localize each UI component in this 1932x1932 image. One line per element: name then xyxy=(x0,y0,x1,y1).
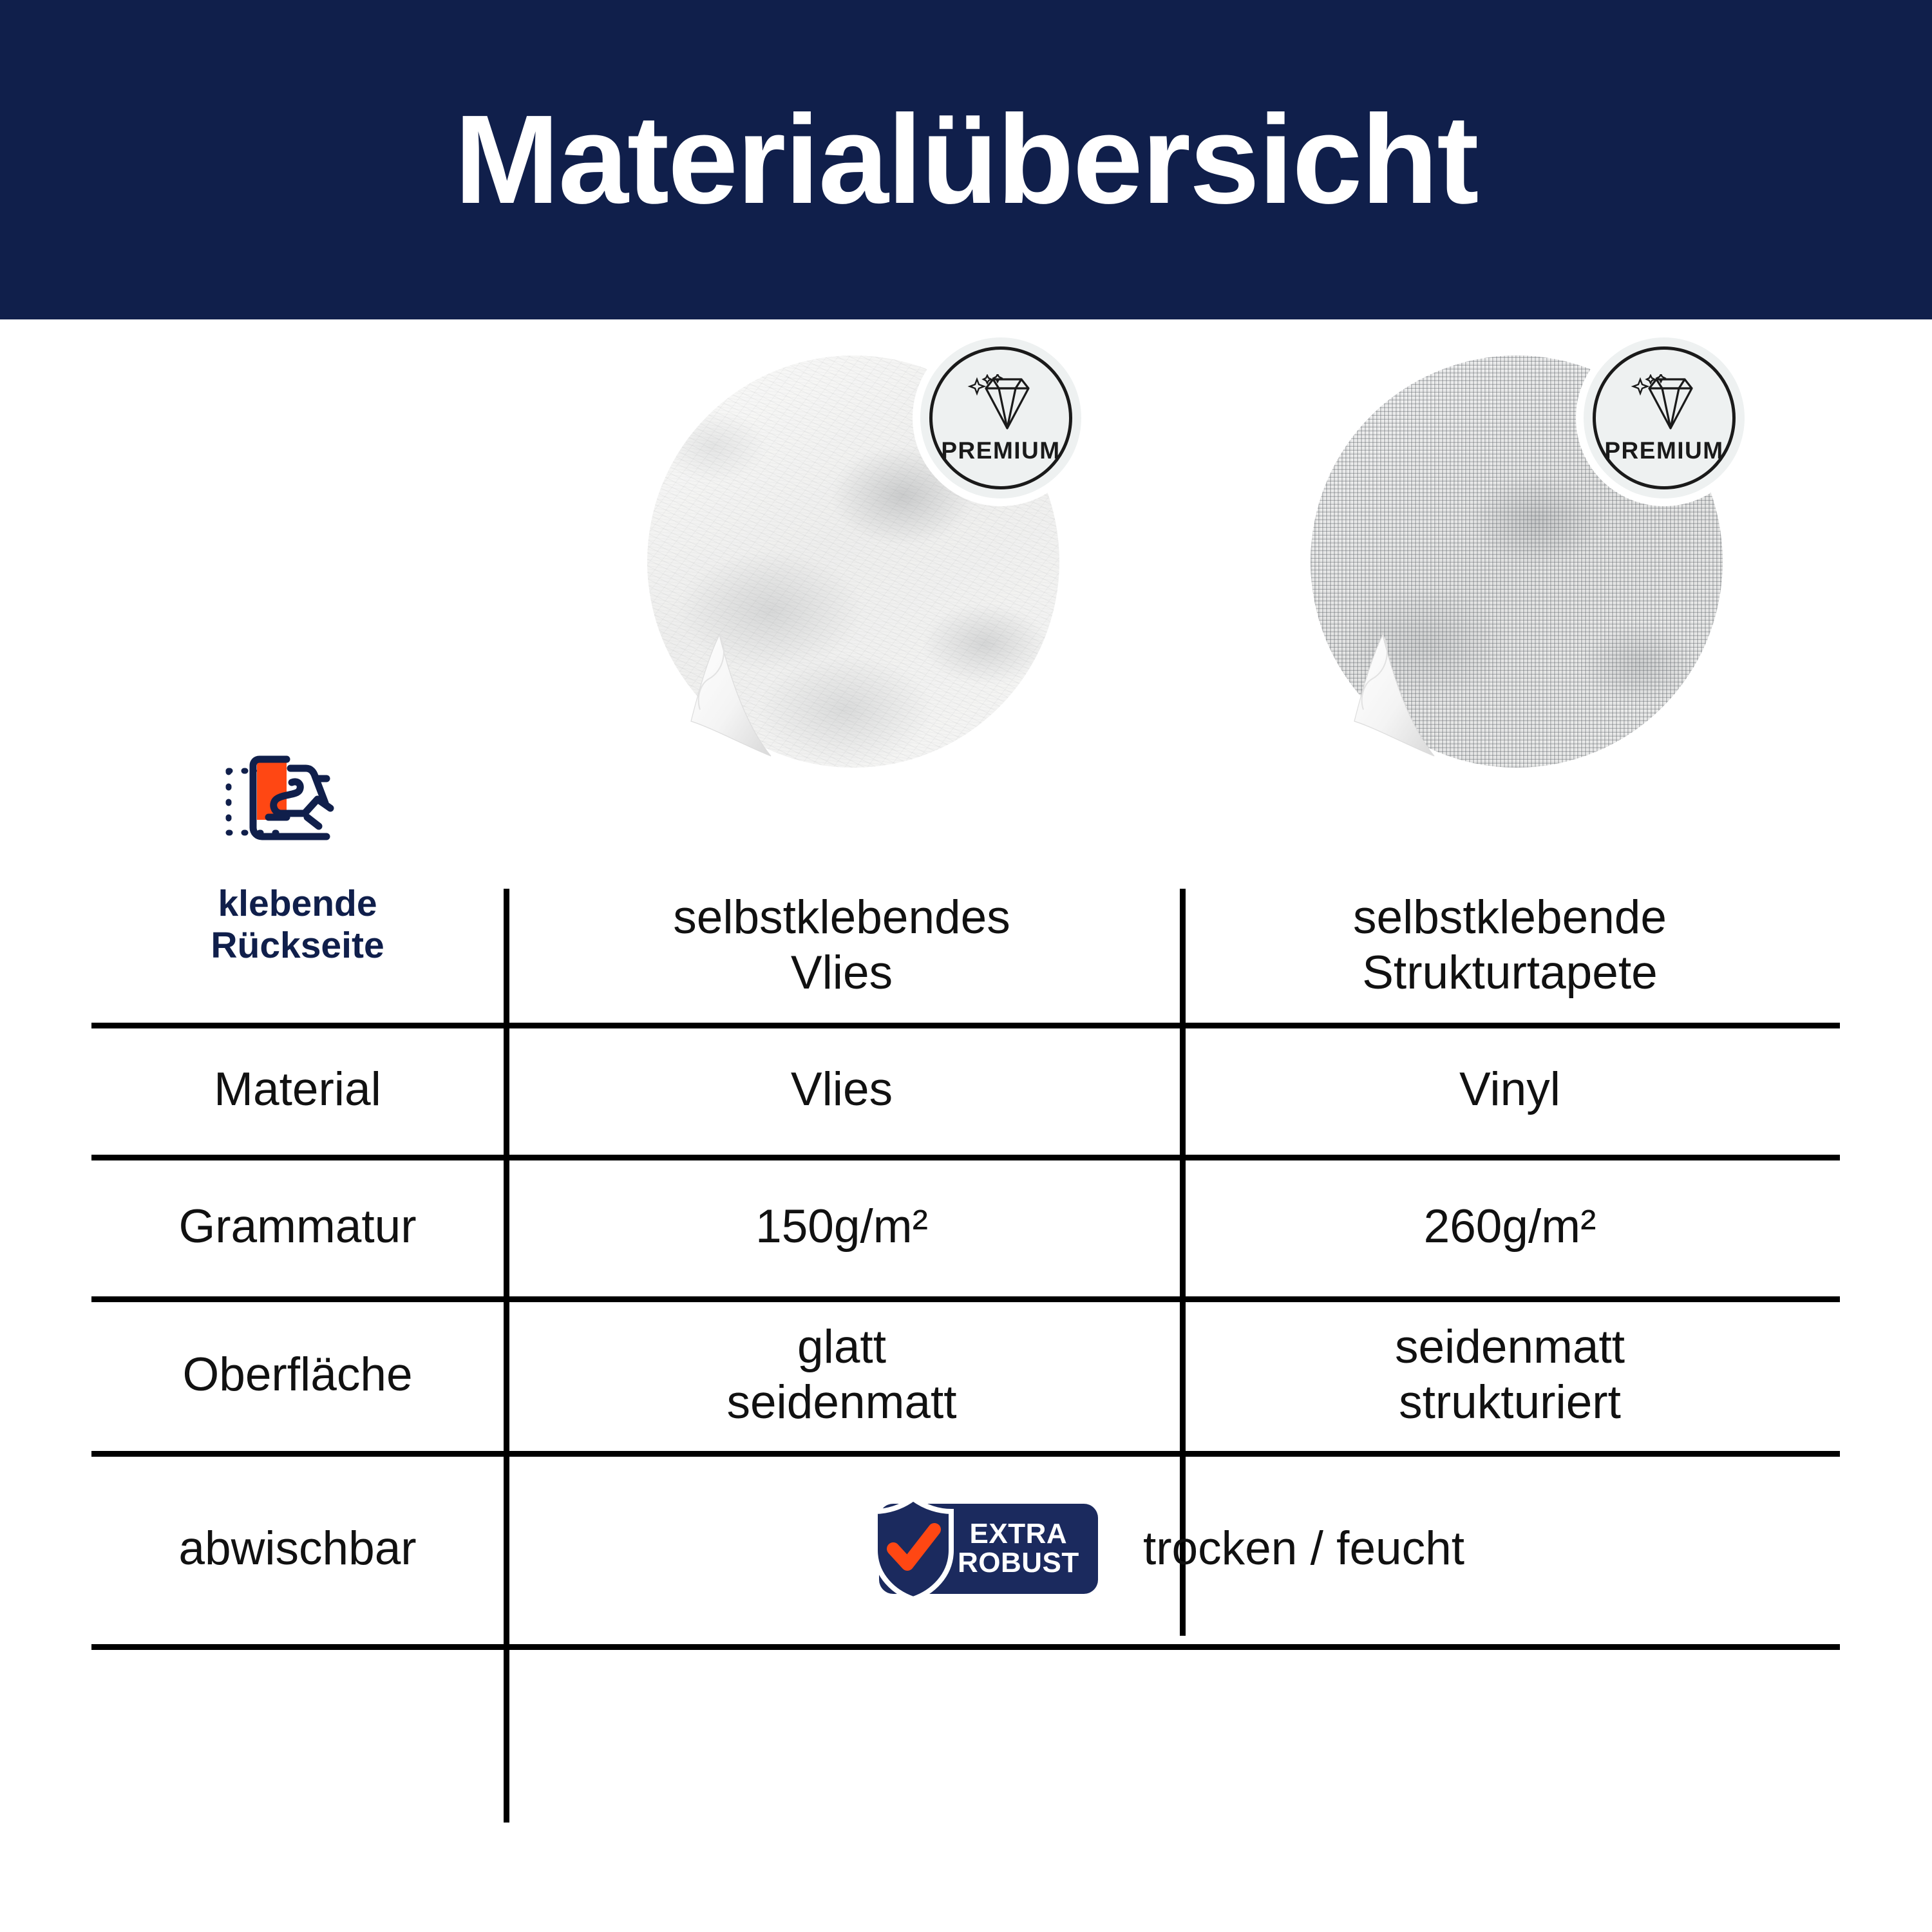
robust-badge-line2: ROBUST xyxy=(958,1549,1079,1578)
oberflaeche-b-line1: seidenmatt xyxy=(1395,1321,1625,1373)
peeling-sticker-hand-icon xyxy=(204,750,391,879)
col-b-title-line2: Strukturtapete xyxy=(1362,947,1658,999)
structured-fabric-swatch: PREMIUM xyxy=(1311,355,1723,768)
spec-table: selbstklebendes Vlies selbstklebende Str… xyxy=(91,889,1840,1645)
cell-grammatur-a: 150g/m² xyxy=(504,1156,1180,1298)
oberflaeche-a-line1: glatt xyxy=(797,1321,886,1373)
robust-badge-line1: EXTRA xyxy=(958,1520,1079,1549)
header-bar: Materialübersicht xyxy=(0,0,1932,319)
cell-material-b: Vinyl xyxy=(1180,1024,1840,1156)
diamond-icon xyxy=(965,374,1036,433)
premium-badge: PREMIUM xyxy=(920,337,1081,498)
table-row: Material Vlies Vinyl xyxy=(91,1024,1840,1156)
cell-grammatur-b: 260g/m² xyxy=(1180,1156,1840,1298)
smooth-concrete-swatch: PREMIUM xyxy=(647,355,1059,768)
table-row: selbstklebendes Vlies selbstklebende Str… xyxy=(91,889,1840,1024)
table-row: Oberfläche glatt seidenmatt seidenmatt s… xyxy=(91,1298,1840,1452)
table-head-label-cell xyxy=(91,889,504,1024)
col-a-title-line1: selbstklebendes xyxy=(673,891,1010,943)
cell-material-a: Vlies xyxy=(504,1024,1180,1156)
table-head-column-a: selbstklebendes Vlies xyxy=(504,889,1180,1024)
row-label-abwischbar: abwischbar xyxy=(91,1452,504,1645)
table-head-column-b: selbstklebende Strukturtapete xyxy=(1180,889,1840,1024)
col-a-title-line2: Vlies xyxy=(791,947,893,999)
table-row: abwischbar EXTRA ROBUST trocken / feucht xyxy=(91,1452,1840,1645)
oberflaeche-b-line2: strukturiert xyxy=(1399,1376,1621,1428)
table-bottom-border xyxy=(91,1644,1840,1650)
premium-badge-label: PREMIUM xyxy=(941,439,1060,462)
row-label-oberflaeche: Oberfläche xyxy=(91,1298,504,1452)
row-label-grammatur: Grammatur xyxy=(91,1156,504,1298)
col-b-title-line1: selbstklebende xyxy=(1353,891,1667,943)
extra-robust-badge: EXTRA ROBUST xyxy=(879,1504,1098,1594)
cell-oberflaeche-b: seidenmatt strukturiert xyxy=(1180,1298,1840,1452)
cell-abwischbar-value: EXTRA ROBUST trocken / feucht xyxy=(504,1452,1840,1645)
cell-oberflaeche-a: glatt seidenmatt xyxy=(504,1298,1180,1452)
premium-badge: PREMIUM xyxy=(1584,337,1745,498)
table-row: Grammatur 150g/m² 260g/m² xyxy=(91,1156,1840,1298)
page-title: Materialübersicht xyxy=(455,97,1478,223)
diamond-icon xyxy=(1629,374,1700,433)
cell-abwischbar-text: trocken / feucht xyxy=(1143,1521,1464,1577)
oberflaeche-a-line2: seidenmatt xyxy=(726,1376,956,1428)
row-label-material: Material xyxy=(91,1024,504,1156)
premium-badge-label: PREMIUM xyxy=(1604,439,1723,462)
shield-check-icon xyxy=(867,1495,959,1603)
